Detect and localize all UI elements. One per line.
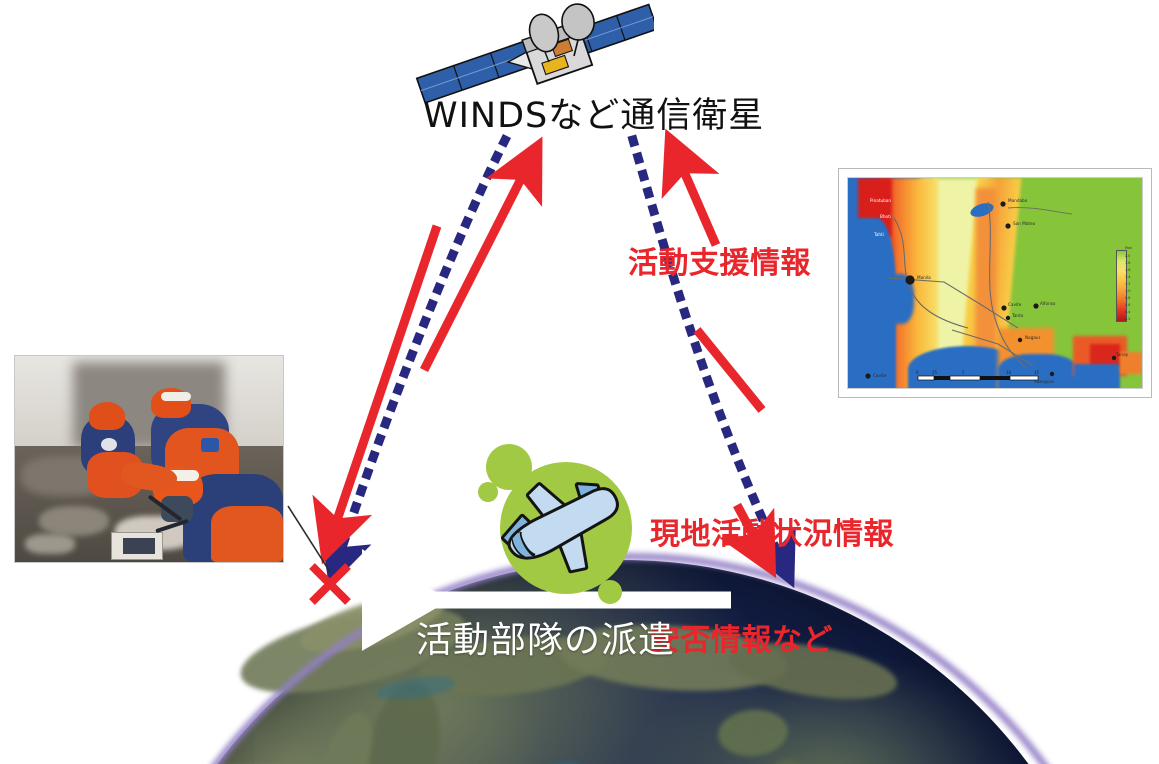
svg-text:0.2: 0.2 bbox=[1125, 317, 1130, 321]
svg-text:5: 5 bbox=[962, 370, 965, 375]
airplane-badge bbox=[478, 440, 638, 605]
svg-text:Bhoti: Bhoti bbox=[880, 214, 891, 219]
svg-text:0.6: 0.6 bbox=[1125, 303, 1130, 307]
arrow-uplink-right-upper bbox=[679, 160, 716, 245]
svg-text:1.8: 1.8 bbox=[1125, 261, 1130, 265]
arrow-downlink-left bbox=[333, 226, 437, 532]
svg-text:2.0: 2.0 bbox=[1125, 254, 1130, 258]
svg-text:Cavite: Cavite bbox=[873, 373, 887, 378]
field-status-label: 現地活動状況情報 安否情報など bbox=[650, 446, 894, 729]
rescue-team-photo bbox=[14, 355, 284, 563]
arrow-uplink-right-lower bbox=[697, 330, 762, 410]
field-status-line-1: 現地活動状況情報 bbox=[650, 517, 894, 552]
svg-text:0.8: 0.8 bbox=[1125, 296, 1130, 300]
arrow-uplink-left bbox=[424, 167, 527, 370]
communications-satellite-icon bbox=[404, 0, 654, 104]
support-info-label: 活動支援情報 bbox=[628, 246, 811, 281]
svg-text:10: 10 bbox=[1006, 370, 1012, 375]
svg-text:25: 25 bbox=[932, 370, 938, 375]
svg-text:1.6: 1.6 bbox=[1125, 268, 1130, 272]
svg-text:Max: Max bbox=[1125, 246, 1132, 250]
svg-text:Tahti: Tahti bbox=[873, 232, 884, 237]
svg-text:Manila: Manila bbox=[917, 275, 931, 280]
svg-text:Nagaur: Nagaur bbox=[1025, 335, 1041, 340]
svg-text:Tanay: Tanay bbox=[1115, 352, 1129, 357]
hazard-map-image: Mondabo San Mateo Manila Cavite Tanto Al… bbox=[838, 168, 1152, 398]
svg-text:15: 15 bbox=[1034, 370, 1040, 375]
svg-text:0: 0 bbox=[916, 370, 919, 375]
svg-text:0.4: 0.4 bbox=[1125, 310, 1130, 314]
airplane-icon bbox=[492, 466, 630, 590]
svg-text:San Mateo: San Mateo bbox=[1013, 221, 1036, 226]
svg-text:Mondabo: Mondabo bbox=[1008, 198, 1028, 203]
svg-text:Tanto: Tanto bbox=[1011, 313, 1024, 318]
satellite-label: WINDSなど通信衛星 bbox=[423, 96, 764, 137]
field-status-line-2: 安否情報など bbox=[650, 623, 894, 658]
dispatch-label: 活動部隊の派遣 bbox=[416, 620, 675, 662]
svg-text:1.2: 1.2 bbox=[1125, 282, 1130, 286]
svg-text:Pinatuban: Pinatuban bbox=[870, 198, 891, 203]
svg-text:1.0: 1.0 bbox=[1125, 289, 1130, 293]
svg-text:Cavite: Cavite bbox=[1008, 302, 1022, 307]
svg-text:1.4: 1.4 bbox=[1125, 275, 1130, 279]
svg-text:Alfonso: Alfonso bbox=[1040, 301, 1056, 306]
diagram-canvas: WINDSなど通信衛星 活動支援情報 現地活動状況情報 安否情報など 活動部隊の… bbox=[0, 0, 1159, 764]
